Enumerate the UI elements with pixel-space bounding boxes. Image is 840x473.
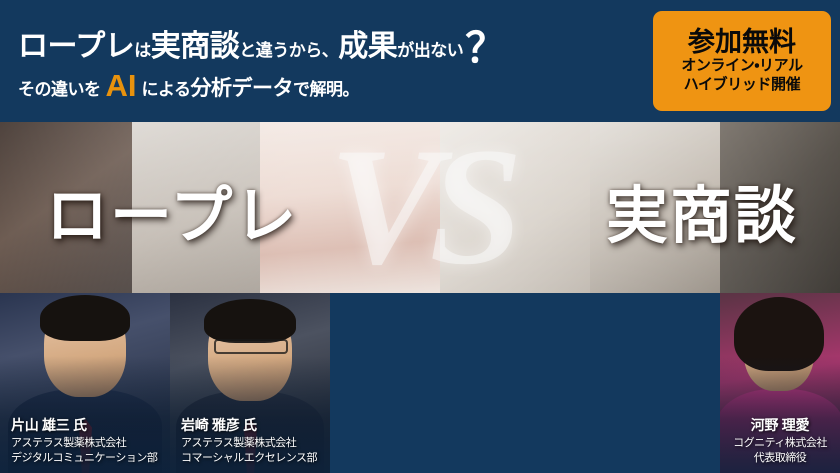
headline-by: による	[142, 75, 191, 100]
headline-line-1: ロープレ は 実商談 と違うから、 成果 が出ない ？	[18, 21, 630, 65]
speaker-card-2: 岩崎 雅彦 氏 アステラス製薬株式会社 コマーシャルエクセレンス部	[170, 293, 330, 473]
headline-particle-1: は	[134, 36, 151, 61]
speaker-3-dept: 代表取締役	[720, 451, 840, 467]
headline-real-deal: 実商談	[151, 21, 240, 65]
speaker-1-name: 片山 雄三 氏	[11, 415, 170, 436]
hero-label-left: ロープレ	[46, 165, 298, 255]
speaker-2-org: アステラス製薬株式会社	[181, 436, 330, 452]
headline-ai-accent: AI	[101, 68, 142, 104]
hero-label-right: 実商談	[606, 165, 798, 255]
speaker-1-dept: デジタルコミュニケーション部	[11, 451, 170, 467]
hero-vs-band: VS ロープレ 実商談	[0, 122, 840, 297]
speaker-2-info: 岩崎 雅彦 氏 アステラス製薬株式会社 コマーシャルエクセレンス部	[170, 415, 330, 467]
speaker-3-info: 河野 理愛 コグニティ株式会社 代表取締役	[720, 415, 840, 467]
bottom-panel: 片山 雄三 氏 アステラス製薬株式会社 デジタルコミュニケーション部 岩崎 雅彦…	[0, 293, 840, 473]
headline-differs: と違うから、	[239, 36, 338, 61]
free-badge-title: 参加無料	[688, 28, 796, 56]
seminar-banner: ロープレ は 実商談 と違うから、 成果 が出ない ？ その違いを AI による…	[0, 0, 840, 473]
headline-results: 成果	[338, 21, 397, 65]
speaker-2-name: 岩崎 雅彦 氏	[181, 415, 330, 436]
headline-analysis-data: 分析データ	[191, 72, 294, 102]
speaker-card-1: 片山 雄三 氏 アステラス製薬株式会社 デジタルコミュニケーション部	[0, 293, 170, 473]
headline-roleplay: ロープレ	[18, 21, 134, 65]
header-band: ロープレ は 実商談 と違うから、 成果 が出ない ？ その違いを AI による…	[0, 0, 840, 122]
speaker-1-info: 片山 雄三 氏 アステラス製薬株式会社 デジタルコミュニケーション部	[0, 415, 170, 467]
speaker-2-dept: コマーシャルエクセレンス部	[181, 451, 330, 467]
speaker-card-3: 河野 理愛 コグニティ株式会社 代表取締役	[720, 293, 840, 473]
headline-no-results: が出ない	[397, 36, 463, 61]
headline-clarify: で解明。	[293, 75, 359, 100]
headline: ロープレ は 実商談 と違うから、 成果 が出ない ？ その違いを AI による…	[18, 16, 630, 108]
vs-watermark: VS	[329, 122, 511, 290]
headline-difference: その違いを	[18, 75, 101, 100]
speaker-1-org: アステラス製薬株式会社	[11, 436, 170, 452]
speaker-3-org: コグニティ株式会社	[720, 436, 840, 452]
free-badge-line-1: オンライン・リアル	[681, 56, 802, 75]
question-mark-icon: ？	[465, 34, 506, 63]
speaker-3-name: 河野 理愛	[720, 415, 840, 436]
free-participation-badge: 参加無料 オンライン・リアル ハイブリッド開催	[653, 11, 831, 111]
headline-line-2: その違いを AI による 分析データ で解明。	[18, 67, 630, 103]
free-badge-line-2: ハイブリッド開催	[684, 75, 801, 94]
